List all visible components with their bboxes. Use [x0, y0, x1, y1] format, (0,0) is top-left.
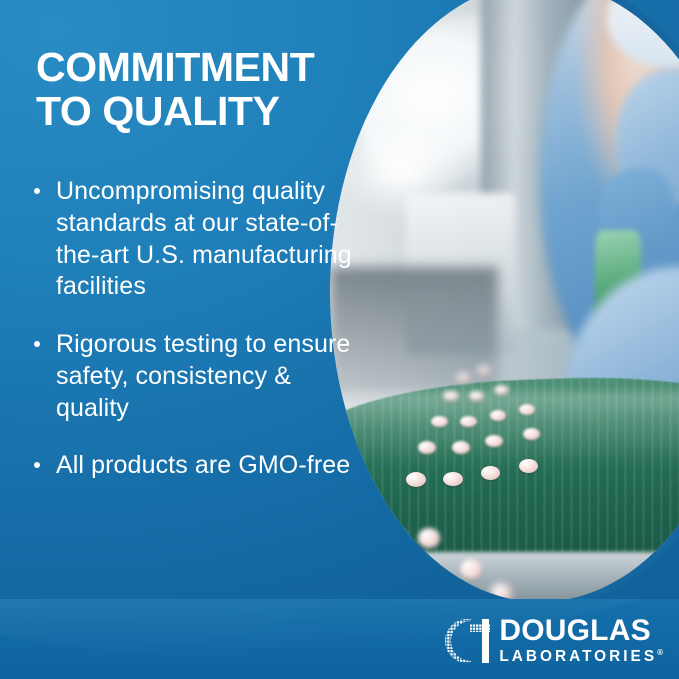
grid-sphere-icon	[444, 618, 490, 664]
logo-subtitle: LABORATORIES®	[499, 649, 663, 665]
headline-line-2: TO QUALITY	[36, 89, 366, 133]
photo-tablet	[456, 373, 471, 382]
brand-logo: DOUGLAS LABORATORIES®	[444, 616, 663, 665]
headline-line-1: COMMITMENT	[36, 45, 366, 89]
photo-tablet	[490, 410, 506, 421]
content-panel: COMMITMENT TO QUALITY Uncompromising qua…	[0, 0, 360, 600]
logo-subtitle-text: LABORATORIES	[499, 649, 657, 666]
photo-tablet	[460, 559, 482, 579]
photo-circle-clip	[330, 0, 679, 602]
photo-tablet	[485, 435, 503, 447]
photo-tablet	[431, 416, 448, 427]
photo-tablet	[519, 404, 535, 415]
commitment-to-quality-banner: COMMITMENT TO QUALITY Uncompromising qua…	[0, 0, 679, 679]
photo-tablet	[385, 528, 407, 548]
photo-tablet	[494, 385, 509, 395]
photo-tablet	[452, 441, 470, 454]
list-item: Uncompromising quality standards at our …	[30, 176, 360, 303]
registered-trademark-icon: ®	[657, 648, 663, 657]
photo-tablet	[443, 472, 463, 486]
benefits-list: Uncompromising quality standards at our …	[30, 176, 360, 508]
photo-tablet	[418, 441, 436, 454]
logo-title: DOUGLAS	[499, 616, 663, 646]
photo-circle	[330, 0, 679, 602]
photo-belt-highlight	[330, 391, 679, 465]
photo-tablet	[418, 528, 440, 548]
list-item: Rigorous testing to ensure safety, consi…	[30, 329, 360, 424]
page-title: COMMITMENT TO QUALITY	[36, 45, 366, 134]
photo-tablet	[469, 391, 484, 401]
list-item: All products are GMO-free	[30, 450, 360, 482]
photo-tablet	[481, 466, 500, 480]
manufacturing-photo	[330, 0, 679, 602]
logo-wordmark: DOUGLAS LABORATORIES®	[499, 616, 663, 665]
photo-tablet	[406, 472, 426, 487]
footer-bar: DOUGLAS LABORATORIES®	[0, 599, 679, 679]
